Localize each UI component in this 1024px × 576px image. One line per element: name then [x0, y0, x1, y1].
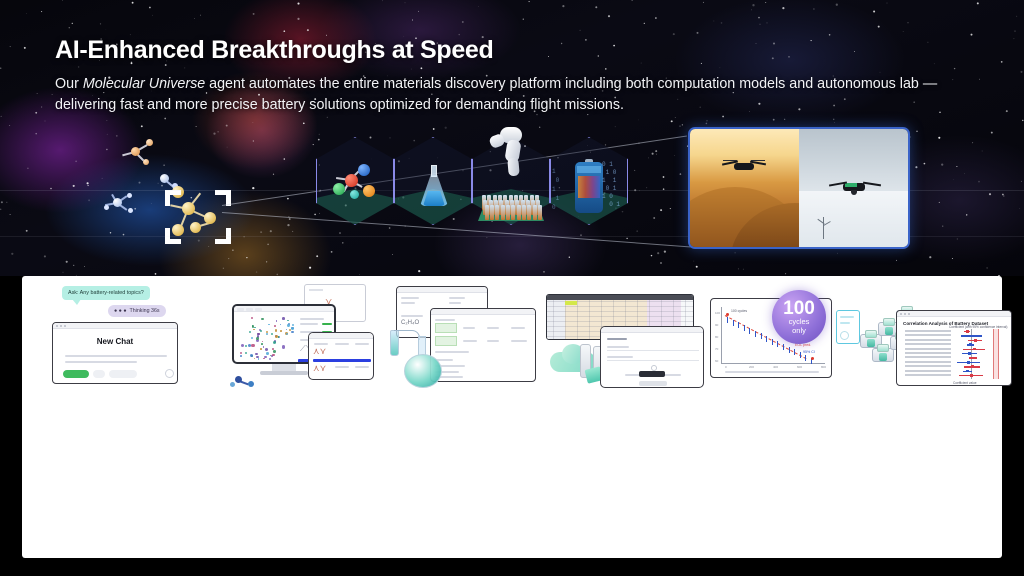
pin-button[interactable]: [93, 370, 105, 378]
data-marker: [738, 322, 739, 328]
vial-icon: [522, 205, 526, 220]
data-marker: [783, 344, 784, 350]
browse-button[interactable]: [639, 371, 665, 377]
vial-icon: [490, 205, 494, 220]
row-label: [905, 374, 951, 376]
molecule-decor: [230, 372, 260, 390]
cycles-badge: 100 cycles only: [772, 290, 826, 344]
badge-line-3: only: [792, 327, 806, 335]
data-marker: [749, 328, 750, 334]
cluster-point: [251, 344, 255, 348]
shrub-decor: [815, 217, 833, 239]
sheet-col-line: [589, 300, 590, 340]
drone-desert-photo: [690, 129, 799, 247]
sheet-highlight-cell: [565, 301, 577, 305]
molecule-sketch: ⋏⋎: [313, 363, 326, 374]
row-label: [905, 334, 951, 336]
cluster-point: [263, 358, 265, 360]
data-marker: [772, 339, 773, 345]
drone-image-panel: [688, 127, 910, 249]
cluster-point: [266, 333, 268, 335]
subtitle-lead: Our: [55, 76, 83, 92]
point-estimate: [966, 370, 969, 373]
molecule-decor-blue: [103, 188, 139, 218]
cluster-point: [240, 355, 242, 357]
sheet-col-line: [565, 300, 566, 340]
data-marker: [727, 317, 728, 323]
flask-apparatus: [388, 326, 444, 386]
cluster-point: [258, 358, 260, 360]
binary-code-decor: 1 01 10: [552, 167, 574, 211]
cluster-point: [251, 337, 253, 339]
flask-icon: [420, 165, 448, 207]
cluster-point: [266, 352, 269, 355]
cluster-point: [287, 320, 289, 322]
thinking-indicator: ● ● ● Thinking 36s: [108, 305, 166, 317]
workflow-board: Ask: Any battery-related topics? ● ● ● T…: [22, 276, 1002, 558]
sheet-row-line: [547, 321, 694, 322]
data-marker: [744, 325, 745, 331]
vial-icon: [538, 205, 542, 220]
cluster-point: [245, 352, 247, 354]
chat-bubble-text: Ask: Any battery-related topics?: [68, 290, 144, 296]
data-point-start: [726, 313, 729, 316]
x-tick-label: 400: [773, 365, 778, 369]
sheet-row-line: [547, 311, 694, 312]
battery-cell-icon: [575, 159, 603, 213]
point-estimate: [971, 365, 974, 368]
annotation-label: 95% CI: [803, 350, 815, 354]
row-label: [905, 352, 951, 354]
formulate-front-panel: [430, 308, 536, 382]
y-tick-label: 60: [715, 359, 718, 363]
predict-side-panel: [836, 310, 860, 344]
y-tick-label: 100: [715, 311, 720, 315]
cluster-point: [287, 324, 289, 326]
point-estimate: [969, 343, 972, 346]
y-tick-label: 90: [715, 323, 718, 327]
design-dialog: [600, 326, 704, 388]
sheet-row-line: [547, 306, 694, 307]
cluster-point: [280, 330, 282, 332]
vial-icon: [517, 205, 521, 220]
highlight-band: [993, 329, 999, 379]
y-tick-label: 80: [715, 335, 718, 339]
search-tablet-panel: ⋏⋎ ⋏⋎: [308, 332, 374, 380]
subtitle-emphasis: Molecular Universe: [83, 76, 205, 92]
molecule-decor-orange: [125, 135, 165, 167]
data-marker: [777, 341, 778, 347]
data-marker: [789, 347, 790, 353]
cluster-point: [282, 345, 286, 349]
thumbnail-ask: Ask: Any battery-related topics? ● ● ● T…: [50, 284, 192, 392]
page-title: AI-Enhanced Breakthroughs at Speed: [55, 36, 985, 65]
x-axis-label: Coefficient value: [953, 381, 977, 385]
hero-space-banner: 0 1 1 01 1 0 11 0 0 1 1 01 10: [0, 0, 1024, 276]
data-marker: [761, 333, 762, 339]
point-estimate: [967, 361, 970, 364]
cluster-point: [280, 324, 281, 325]
drone-silhouette: [829, 179, 881, 195]
thumbnail-predict: EOL pred.95% CI100 cycles100908070600200…: [706, 284, 856, 392]
cluster-point: [276, 320, 278, 322]
thumbnail-formulate: C₂H₄O: [382, 284, 542, 392]
row-label: [905, 348, 951, 350]
cluster-point: [261, 318, 264, 321]
point-estimate: [966, 330, 969, 333]
cluster-point: [275, 329, 277, 331]
cluster-point: [274, 325, 276, 327]
cluster-point: [291, 327, 294, 330]
cluster-point: [254, 358, 256, 360]
cluster-point: [245, 345, 247, 347]
cluster-point: [286, 333, 289, 336]
cluster-point: [269, 358, 272, 361]
cluster-point: [255, 353, 258, 356]
cluster-point: [286, 329, 287, 330]
robot-arm-icon: [484, 127, 542, 197]
cluster-point: [249, 331, 251, 333]
cluster-point: [256, 337, 259, 340]
vial-tray-icon: [478, 189, 544, 221]
annotation-label: 100 cycles: [731, 309, 747, 313]
point-estimate: [970, 335, 973, 338]
row-label: [905, 365, 951, 367]
cluster-point: [282, 317, 285, 320]
x-tick-label: 0: [725, 365, 727, 369]
cluster-point: [253, 329, 255, 331]
row-label: [905, 330, 951, 332]
vial-icon: [485, 205, 489, 220]
x-tick-label: 200: [749, 365, 754, 369]
sheet-col-line: [577, 300, 578, 340]
row-label: [905, 370, 951, 372]
vial-icon: [511, 205, 515, 220]
cluster-point: [272, 354, 275, 357]
data-marker: [794, 349, 795, 355]
molecule-icon: [332, 163, 380, 205]
row-label: [905, 356, 951, 358]
x-tick-label: 600: [797, 365, 802, 369]
cluster-point: [266, 331, 268, 333]
vial-icon: [495, 205, 499, 220]
sheet-col-line: [553, 300, 554, 340]
row-label: [905, 343, 951, 345]
drone-snow-photo: [799, 129, 908, 247]
cluster-point: [263, 346, 265, 348]
vial-icon: [506, 205, 510, 220]
cluster-point: [241, 344, 244, 347]
cluster-point: [271, 333, 273, 335]
vial-icon: [533, 205, 537, 220]
binary-code-decor: 0 1 1 01 1 0 11 0 0 1: [602, 161, 634, 213]
manufacture-analysis-window: Correlation Analysis of Battery Dataset …: [896, 310, 1012, 386]
new-chat-window: New Chat: [52, 322, 178, 384]
upload-button[interactable]: [63, 370, 89, 378]
cluster-point: [273, 341, 276, 344]
cluster-point: [261, 343, 263, 345]
cluster-point: [260, 330, 262, 332]
thumbnail-search: ⋎ ⟋⟍⟋: [218, 284, 378, 392]
data-point-end: [811, 357, 814, 360]
cluster-point: [265, 348, 268, 351]
point-estimate: [974, 339, 977, 342]
thumbnail-manufacture: Correlation Analysis of Battery Dataset …: [860, 284, 1010, 392]
cluster-point: [273, 350, 276, 353]
data-marker: [755, 331, 756, 337]
drone-silhouette: [722, 159, 766, 172]
vial-icon: [501, 205, 505, 220]
row-label: [905, 339, 951, 341]
hero-subtitle: Our Molecular Universe agent automates t…: [55, 74, 985, 116]
thinking-label: Thinking 36s: [130, 308, 160, 314]
point-estimate: [968, 352, 971, 355]
cluster-point: [250, 354, 253, 357]
point-estimate: [970, 374, 973, 377]
point-estimate: [972, 357, 975, 360]
badge-number: 100: [783, 299, 815, 318]
new-chat-title: New Chat: [53, 337, 177, 346]
cluster-point: [268, 324, 270, 326]
y-tick-label: 70: [715, 347, 718, 351]
data-marker: [766, 336, 767, 342]
cluster-point: [260, 348, 262, 350]
vial-icon: [527, 205, 531, 220]
cluster-point: [278, 336, 280, 338]
data-marker: [800, 352, 801, 358]
data-marker: [805, 355, 806, 361]
x-tick-label: 800: [821, 365, 826, 369]
submit-button[interactable]: [639, 381, 667, 386]
cluster-point: [251, 317, 253, 319]
point-estimate: [973, 348, 976, 351]
sheet-row-line: [547, 316, 694, 317]
row-label: [905, 361, 951, 363]
data-marker: [733, 320, 734, 326]
cluster-point: [257, 333, 259, 335]
cluster-point: [291, 331, 294, 334]
chat-bubble: Ask: Any battery-related topics?: [62, 286, 150, 300]
cluster-point: [262, 341, 263, 342]
molecule-sketch: ⋏⋎: [313, 346, 326, 357]
save-space-button[interactable]: [109, 370, 137, 378]
cluster-point: [292, 324, 294, 326]
hero-text-block: AI-Enhanced Breakthroughs at Speed Our M…: [55, 36, 985, 116]
send-icon[interactable]: [165, 369, 174, 378]
thumbnail-design: [544, 284, 704, 392]
